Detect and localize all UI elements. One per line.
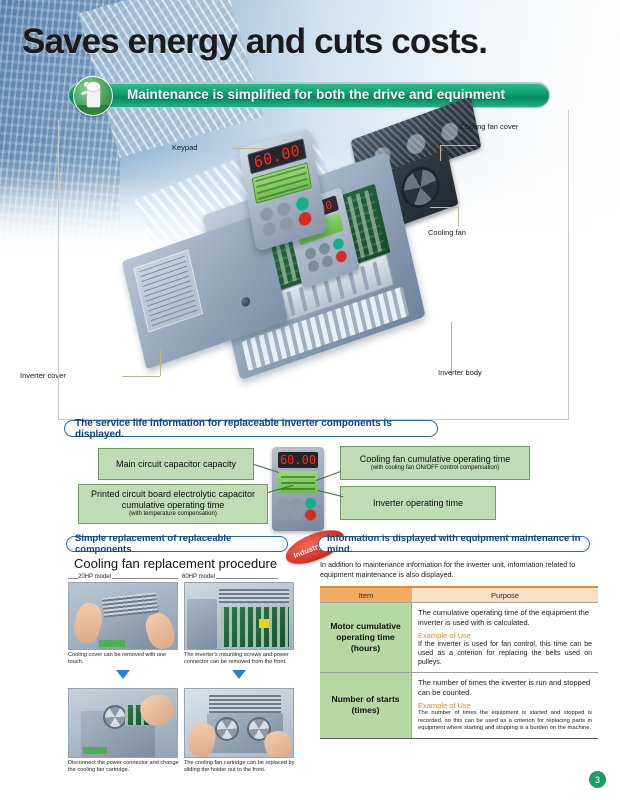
exploded-diagram: 60.00 60.00 Keypad Cooling fan cover Coo… [0, 110, 620, 420]
step-photo-4 [184, 688, 294, 758]
callout-main-circuit-capacitor: Main circuit capacitor capacity [98, 448, 254, 480]
callout-cooling-fan-time-note: (with cooling fan ON/OFF control compens… [371, 465, 499, 473]
table-header-purpose: Purpose [412, 588, 598, 602]
purpose-main-2: The number of times the inverter is run … [418, 678, 592, 697]
model-tag-60hp: 60HP model [182, 574, 215, 580]
purpose-main-1: The cumulative operating time of the equ… [418, 608, 592, 627]
right-section-header-text: Information is displayed with equipment … [327, 533, 581, 555]
left-section-header: Simple replacement of replaceable compon… [66, 536, 288, 552]
right-section-header: Information is displayed with equipment … [318, 536, 590, 552]
purpose-example-2: The number of times the equipment is sta… [418, 710, 592, 733]
left-section-header-text: Simple replacement of replaceable compon… [75, 533, 279, 555]
step-arrow-2 [232, 670, 246, 679]
service-life-bar: The service life information for replace… [64, 420, 438, 437]
callout-pcb-capacitor-note: (with temperature compensation) [129, 511, 217, 519]
table-cell-purpose-1: The cumulative operating time of the equ… [412, 603, 598, 672]
step-caption-4: The cooling fan cartridge can be replace… [184, 760, 296, 774]
leader-fan-cover-v [440, 145, 441, 161]
step-caption-3: Disconnect the power connector and chang… [68, 760, 180, 774]
callout-pcb-capacitor: Printed circuit board electrolytic capac… [78, 484, 268, 524]
frame-line-left [58, 120, 59, 420]
page-number-badge: 3 [589, 771, 606, 788]
table-cell-item-2: Number of starts (times) [320, 673, 412, 738]
table-cell-purpose-2: The number of times the inverter is run … [412, 673, 598, 738]
leader-cover-v [160, 350, 161, 376]
model-tag-rule-left-a [68, 578, 78, 579]
model-tag-20hp: 20HP model [78, 574, 111, 580]
model-tag-rule-right [216, 578, 278, 579]
label-inverter-body: Inverter body [438, 368, 482, 377]
step-photo-2 [184, 582, 294, 650]
frame-line-right [568, 110, 569, 420]
leader-cover-h [122, 376, 160, 377]
step-photo-3 [68, 688, 178, 758]
callout-inverter-operating-time-title: Inverter operating time [373, 498, 463, 509]
purpose-example-1: If the inverter is used for fan control,… [418, 640, 592, 667]
maintenance-banner: Maintenance is simplified for both the d… [68, 82, 550, 108]
table-row: Motor cumulative operating time (hours) … [320, 602, 598, 672]
procedure-title: Cooling fan replacement procedure [74, 556, 277, 571]
label-keypad: Keypad [172, 143, 197, 152]
step-photo-1 [68, 582, 178, 650]
step-caption-2: The inverter's mounting screws and power… [184, 652, 296, 666]
callout-pcb-capacitor-title: Printed circuit board electrolytic capac… [83, 489, 263, 511]
service-life-text: The service life information for replace… [75, 418, 427, 440]
right-section-intro: In addition to maintenance information f… [320, 560, 600, 580]
leader-fan-v [458, 207, 459, 226]
table-bottom-rule [320, 738, 598, 740]
step-arrow-1 [116, 670, 130, 679]
leader-fan-h [430, 207, 458, 208]
label-cooling-fan: Cooling fan [428, 228, 466, 237]
leader-keypad [232, 148, 266, 149]
table-cell-item-1: Motor cumulative operating time (hours) [320, 603, 412, 672]
table-header-row: Item Purpose [320, 588, 598, 602]
step-caption-1: Cooling cover can be removed with one to… [68, 652, 180, 666]
callout-cooling-fan-time-title: Cooling fan cumulative operating time [360, 454, 511, 465]
monitor-keypad-led: 60.00 [278, 452, 318, 468]
purpose-example-label-1: Example of Use [418, 631, 592, 640]
leader-fan-cover-h [440, 145, 476, 146]
purpose-example-label-2: Example of Use [418, 701, 592, 710]
callout-cooling-fan-time: Cooling fan cumulative operating time (w… [340, 446, 530, 480]
table-header-item: Item [320, 588, 412, 602]
callout-inverter-operating-time: Inverter operating time [340, 486, 496, 520]
maintenance-banner-text: Maintenance is simplified for both the d… [127, 87, 539, 102]
page-title: Saves energy and cuts costs. [22, 22, 487, 62]
model-tag-rule-left-b [112, 578, 178, 579]
brochure-page: Saves energy and cuts costs. Maintenance… [0, 0, 620, 800]
callout-main-circuit-capacitor-title: Main circuit capacitor capacity [116, 459, 236, 470]
table-row: Number of starts (times) The number of t… [320, 672, 598, 738]
label-cooling-fan-cover: Cooling fan cover [460, 122, 518, 131]
maintenance-table: Item Purpose Motor cumulative operating … [320, 586, 598, 739]
